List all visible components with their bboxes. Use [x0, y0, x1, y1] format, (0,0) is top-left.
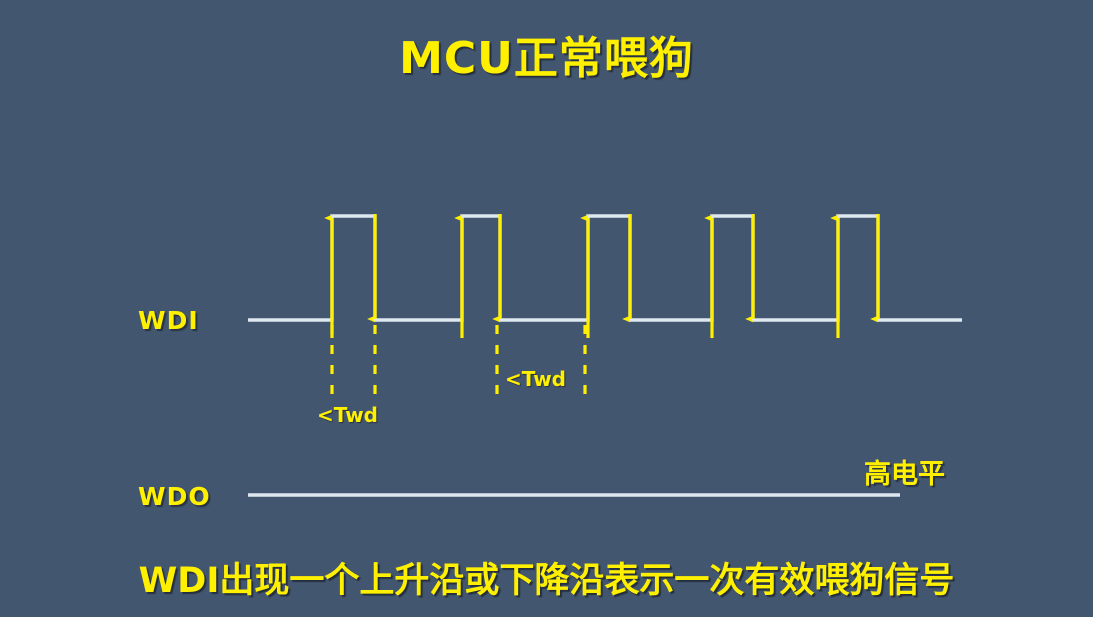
signal-label-wdi: WDI — [138, 306, 199, 335]
wdi-waveform-trace — [248, 216, 962, 320]
page-title: MCU正常喂狗 — [0, 22, 1093, 86]
twd-annotation-1: <Twd — [317, 403, 378, 427]
wdi-signal-path — [248, 216, 962, 320]
signal-label-wdo: WDO — [138, 482, 211, 511]
high-level-annotation: 高电平 — [864, 452, 945, 491]
edge-transition-arrows — [332, 214, 878, 338]
slide-caption: WDI出现一个上升沿或下降沿表示一次有效喂狗信号 — [0, 552, 1093, 603]
slide-canvas: MCU正常喂狗 WDI WDO <Twd <Twd 高电平 WDI出现一个上升沿… — [0, 0, 1093, 617]
twd-annotation-2: <Twd — [505, 367, 566, 391]
